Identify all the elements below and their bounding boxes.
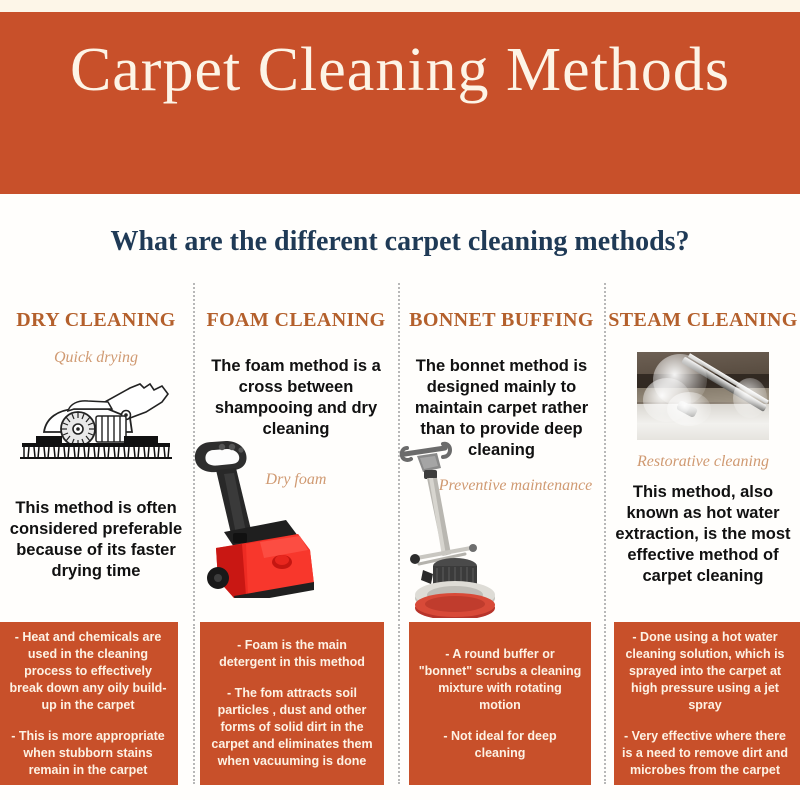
method-title-foam-cleaning: FOAM CLEANING (195, 308, 397, 332)
method-tagline-steam-cleaning: Restorative cleaning (606, 452, 800, 472)
steam-wand-photo (637, 352, 769, 440)
infographic-page: Carpet Cleaning Methods What are the dif… (0, 0, 800, 800)
fact-item: - Done using a hot water cleaning soluti… (622, 629, 788, 714)
method-column-bonnet-buffing: BONNET BUFFING The bonnet method is desi… (400, 300, 603, 620)
factbox-bonnet-buffing: - A round buffer or "bonnet" scrubs a cl… (409, 622, 591, 785)
factbox-dry-cleaning: - Heat and chemicals are used in the cle… (0, 622, 178, 785)
floor-buffer-machine-icon (393, 438, 513, 618)
factbox-divider-1 (193, 624, 195, 784)
fact-item: - The fom attracts soil particles , dust… (208, 685, 376, 770)
fact-item: - Foam is the main detergent in this met… (208, 637, 376, 671)
fact-item: - Not ideal for deep cleaning (417, 728, 583, 762)
top-cream-strip (0, 0, 800, 12)
fact-item: - This is more appropriate when stubborn… (6, 728, 170, 779)
method-title-bonnet-buffing: BONNET BUFFING (400, 308, 603, 332)
section-subtitle: What are the different carpet cleaning m… (0, 225, 800, 259)
method-description-dry-cleaning: This method is often considered preferab… (8, 498, 184, 582)
factbox-steam-cleaning: - Done using a hot water cleaning soluti… (614, 622, 800, 785)
fact-item: - Heat and chemicals are used in the cle… (6, 629, 170, 714)
method-title-steam-cleaning: STEAM CLEANING (606, 308, 800, 332)
method-title-dry-cleaning: DRY CLEANING (0, 308, 192, 332)
method-column-dry-cleaning: DRY CLEANING Quick drying (0, 300, 192, 620)
factbox-foam-cleaning: - Foam is the main detergent in this met… (200, 622, 384, 785)
method-tagline-dry-cleaning: Quick drying (0, 348, 192, 368)
header-banner: Carpet Cleaning Methods (0, 12, 800, 194)
method-column-foam-cleaning: FOAM CLEANING The foam method is a cross… (195, 300, 397, 620)
method-description-steam-cleaning: This method, also known as hot water ext… (608, 482, 798, 587)
factbox-divider-2 (398, 624, 400, 784)
dry-cleaning-machine-icon (12, 378, 180, 464)
fact-item: - Very effective where there is a need t… (622, 728, 788, 779)
factbox-divider-3 (604, 624, 606, 784)
method-column-steam-cleaning: STEAM CLEANING Restorative cleaning This… (606, 300, 800, 620)
foam-cleaning-machine-icon (190, 428, 340, 598)
fact-item: - A round buffer or "bonnet" scrubs a cl… (417, 646, 583, 714)
page-title: Carpet Cleaning Methods (0, 34, 800, 106)
